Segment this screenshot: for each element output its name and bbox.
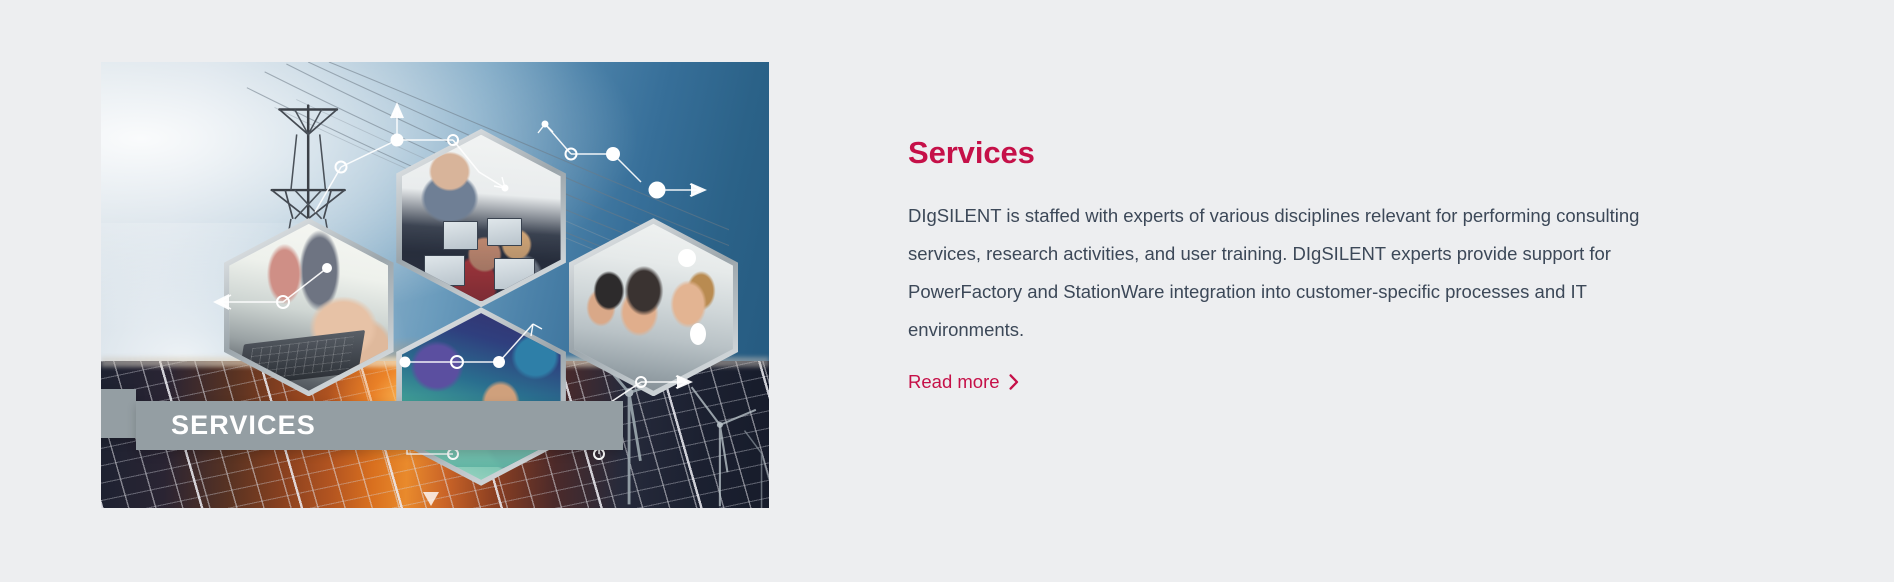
services-banner-tab bbox=[101, 389, 136, 438]
services-media-block[interactable]: SERVICES bbox=[101, 62, 769, 508]
page-title: Services bbox=[908, 135, 1698, 171]
services-banner: SERVICES bbox=[136, 401, 623, 450]
services-banner-label: SERVICES bbox=[171, 410, 316, 441]
read-more-label: Read more bbox=[908, 371, 1000, 393]
services-text-block: Services DIgSILENT is staffed with exper… bbox=[908, 135, 1698, 393]
services-collage-image: SERVICES bbox=[101, 62, 769, 508]
services-teaser-section: SERVICES Services DIgSILENT is staffed w… bbox=[0, 0, 1894, 582]
services-description: DIgSILENT is staffed with experts of var… bbox=[908, 197, 1683, 349]
read-more-link[interactable]: Read more bbox=[908, 371, 1019, 393]
chevron-right-icon bbox=[1009, 374, 1019, 390]
